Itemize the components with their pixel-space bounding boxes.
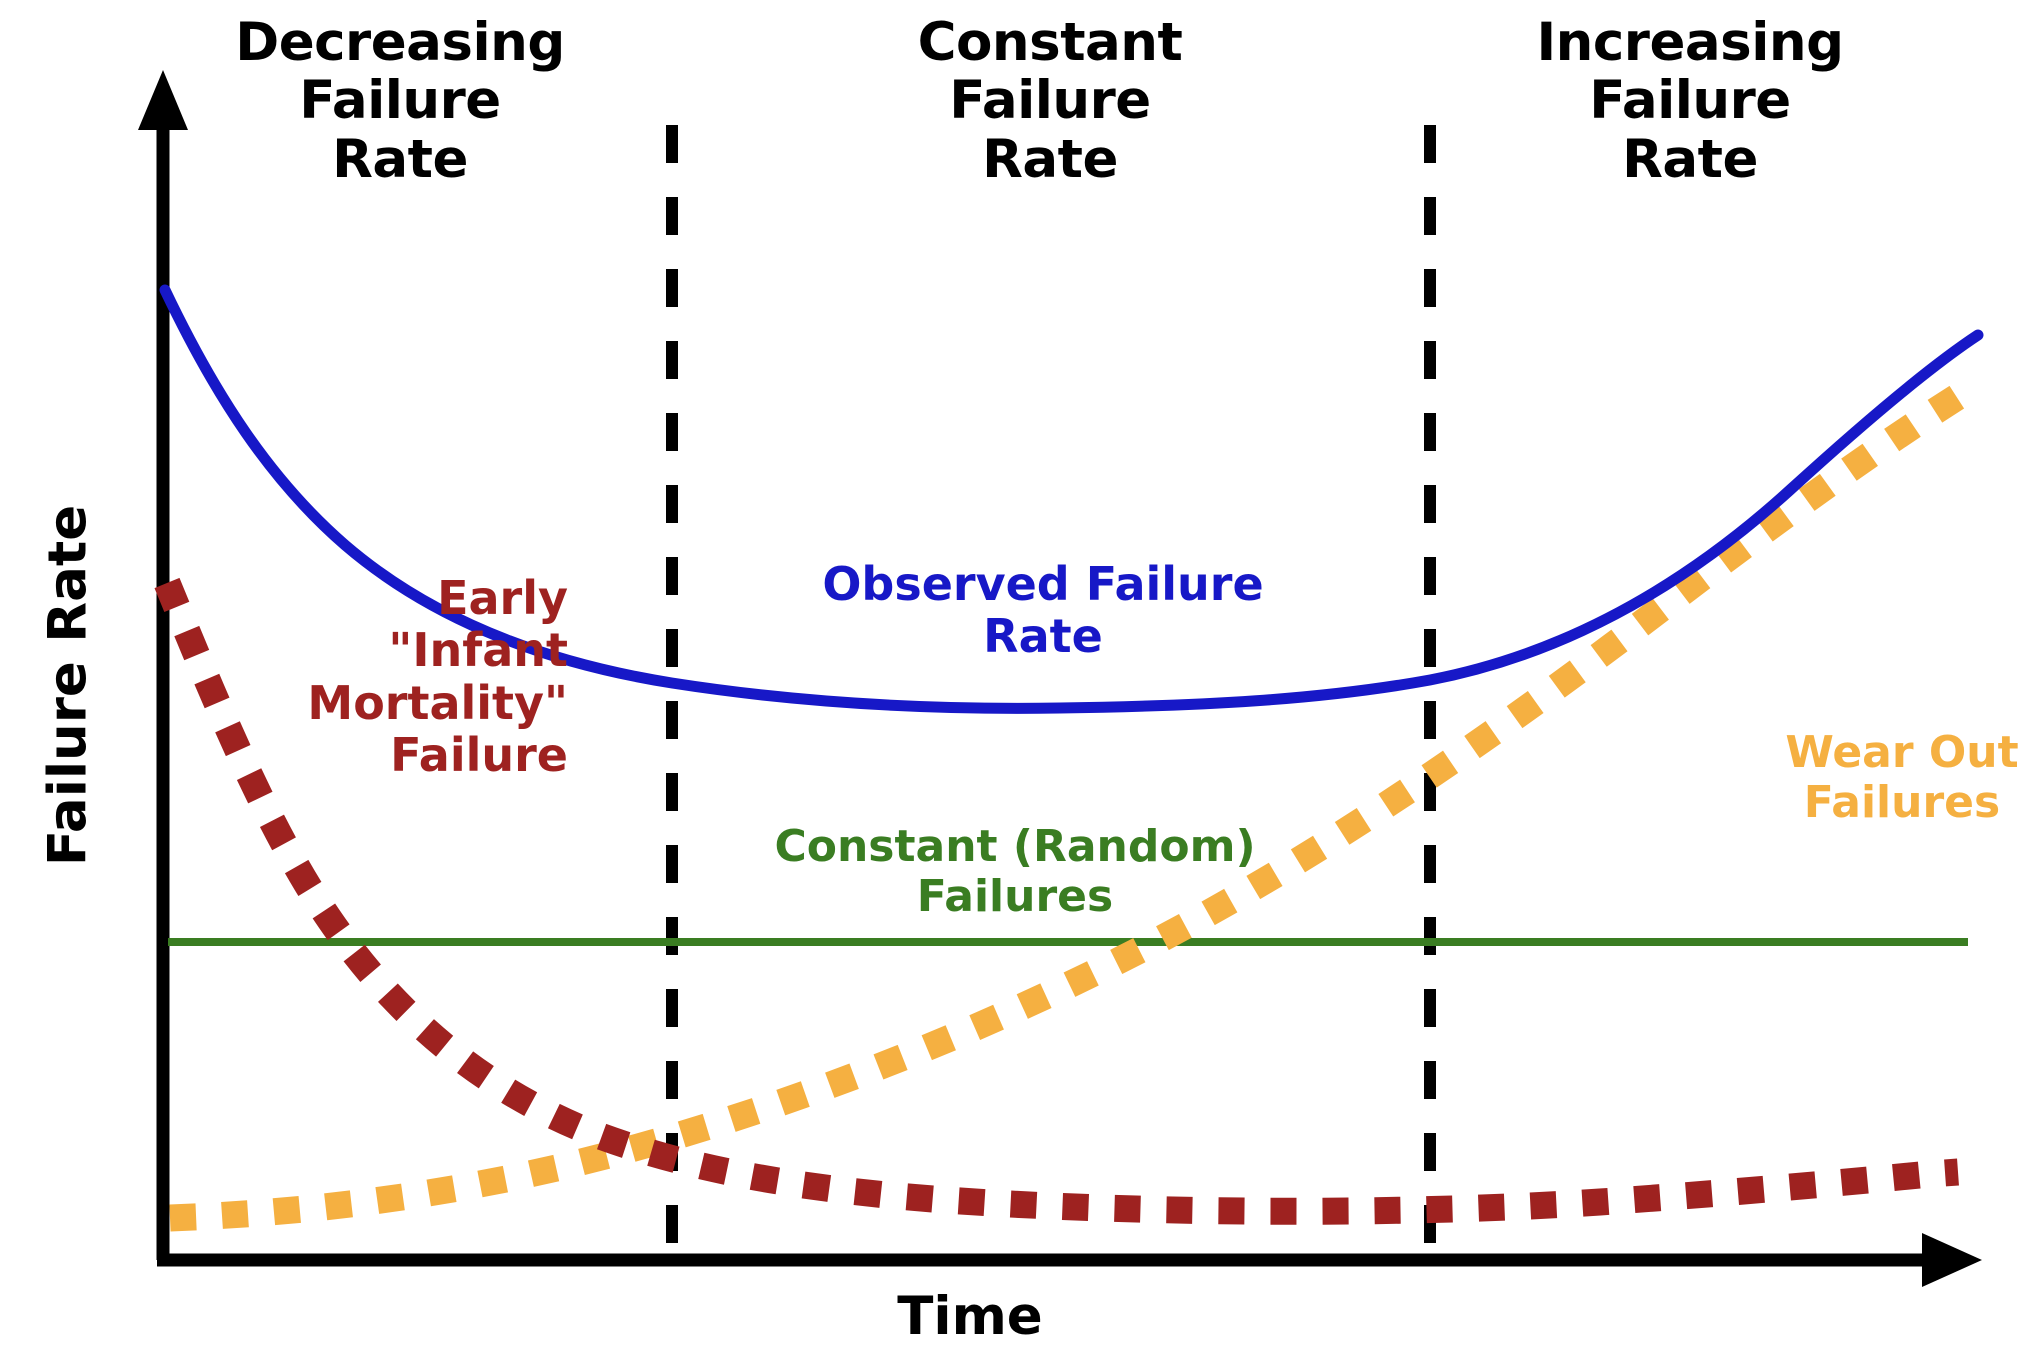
x-axis-arrowhead [1922,1233,1982,1287]
phase-title-increasing: Increasing Failure Rate [1440,14,1940,189]
infant-mortality-label: Early "Infant Mortality" Failure [148,572,568,782]
bathtub-curve-figure: Decreasing Failure Rate Constant Failure… [0,0,2024,1352]
x-axis-label: Time [800,1286,1140,1347]
phase-title-constant: Constant Failure Rate [800,14,1300,189]
phase-title-decreasing: Decreasing Failure Rate [150,14,650,189]
observed-failure-rate-label: Observed Failure Rate [748,558,1338,663]
wear-out-curve [170,384,1978,1218]
series-wear-out [170,384,1978,1218]
constant-random-failures-label: Constant (Random) Failures [700,822,1330,922]
wear-out-failures-label: Wear Out Failures [1762,728,2024,828]
y-axis-label: Failure Rate [38,486,99,886]
